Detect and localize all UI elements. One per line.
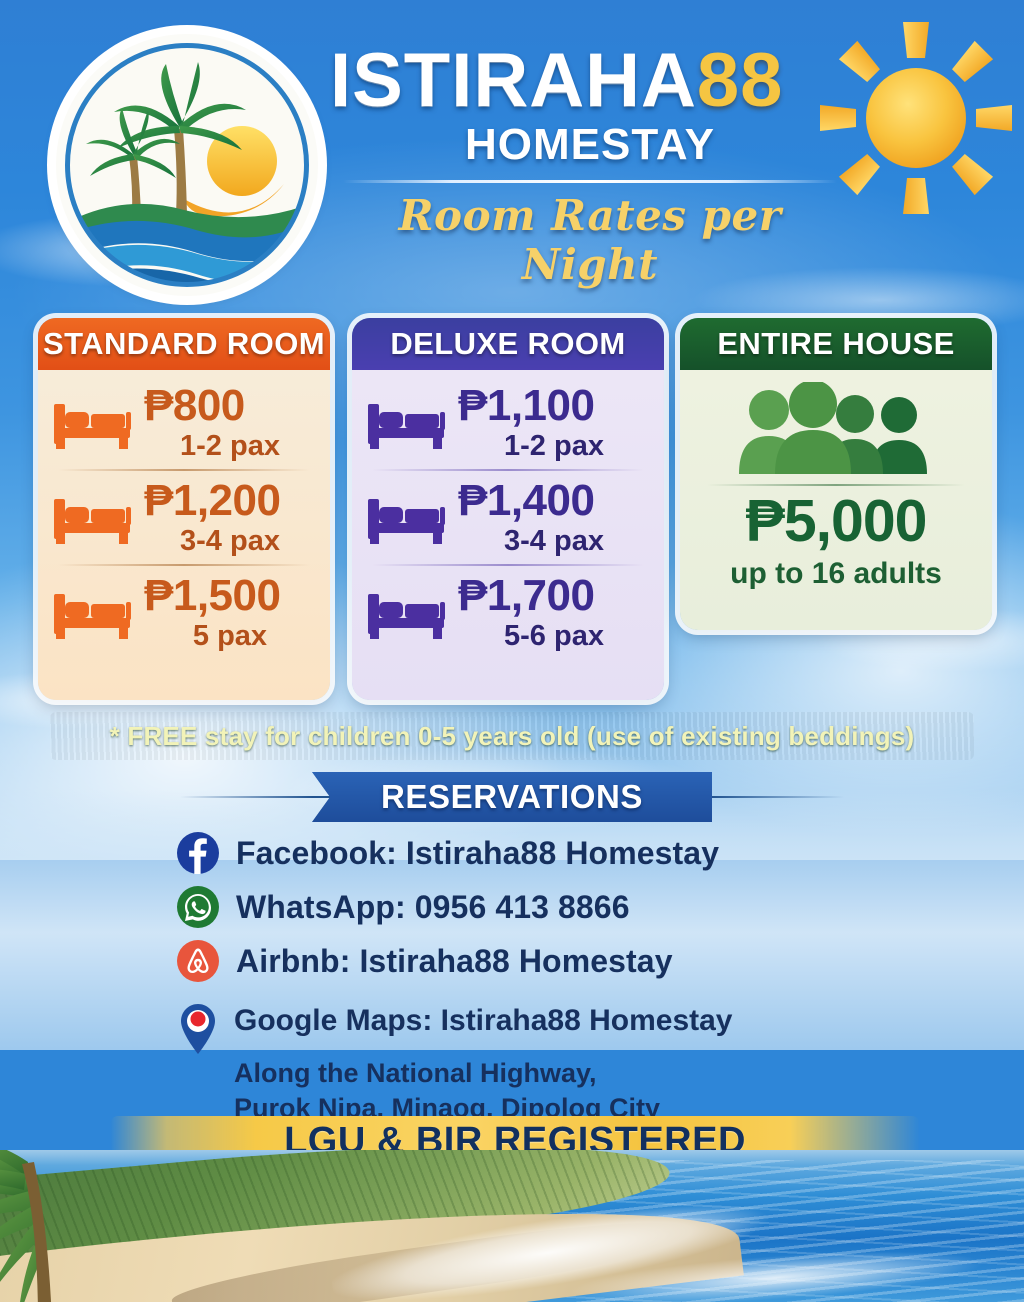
- maps-title: Google Maps: Istiraha88 Homestay: [234, 1004, 733, 1038]
- rate-price: ₱1,700: [458, 574, 594, 618]
- house-price: ₱5,000: [746, 492, 927, 551]
- card-standard-title: STANDARD ROOM: [38, 318, 330, 370]
- card-standard-body: ₱800 1-2 pax: [38, 370, 330, 700]
- bed-icon: [52, 588, 138, 640]
- maps-address: Along the National Highway, Purok Nipa, …: [234, 1056, 936, 1125]
- rate-price: ₱1,400: [458, 479, 594, 523]
- bed-icon: [52, 398, 138, 450]
- rate-text: ₱1,200 3-4 pax: [144, 479, 316, 558]
- maps-address-line1: Along the National Highway,: [234, 1056, 936, 1091]
- title-divider: [343, 180, 837, 183]
- house-capacity: up to 16 adults: [730, 557, 942, 591]
- row-separator: [58, 469, 310, 471]
- card-house-body: ₱5,000 up to 16 adults: [680, 370, 992, 630]
- logo-badge: [56, 34, 318, 296]
- rate-pax: 1-2 pax: [504, 430, 604, 463]
- rate-price: ₱1,200: [144, 479, 280, 523]
- rate-price: ₱800: [144, 384, 245, 428]
- map-pin-icon[interactable]: [176, 1002, 220, 1056]
- sun-icon: [812, 14, 1020, 222]
- airbnb-icon[interactable]: [176, 939, 220, 983]
- card-standard-room[interactable]: STANDARD ROOM ₱800 1-2 pax: [38, 318, 330, 700]
- card-deluxe-body: ₱1,100 1-2 pax: [352, 370, 664, 700]
- group-of-people-icon: [733, 382, 939, 474]
- brand-subtitle: HOMESTAY: [330, 120, 850, 170]
- rate-pax: 1-2 pax: [180, 430, 280, 463]
- card-entire-house[interactable]: ENTIRE HOUSE ₱5,000 up to 16 adults: [680, 318, 992, 630]
- tagline: Room Rates per Night: [330, 191, 850, 289]
- rate-pax: 3-4 pax: [180, 525, 280, 558]
- row-separator: [372, 564, 644, 566]
- free-stay-note: * FREE stay for children 0-5 years old (…: [50, 712, 974, 760]
- bed-icon: [366, 398, 452, 450]
- rate-row: ₱1,100 1-2 pax: [366, 380, 650, 465]
- card-house-title: ENTIRE HOUSE: [680, 318, 992, 370]
- bed-icon: [366, 493, 452, 545]
- contact-google-maps[interactable]: Google Maps: Istiraha88 Homestay Along t…: [176, 1004, 936, 1125]
- contact-airbnb[interactable]: Airbnb: Istiraha88 Homestay: [176, 934, 876, 988]
- card-deluxe-room[interactable]: DELUXE ROOM ₱1,100 1-2 pax: [352, 318, 664, 700]
- brand-number: 88: [697, 38, 784, 123]
- rate-pax: 5 pax: [193, 620, 267, 653]
- rate-text: ₱1,400 3-4 pax: [458, 479, 650, 558]
- brand-title: ISTIRAHA88: [330, 44, 850, 118]
- row-separator: [58, 564, 310, 566]
- row-separator: [372, 469, 644, 471]
- rate-price: ₱1,100: [458, 384, 594, 428]
- contact-facebook[interactable]: Facebook: Istiraha88 Homestay: [176, 826, 876, 880]
- ribbon-shape: RESERVATIONS: [312, 772, 712, 822]
- rate-row: ₱800 1-2 pax: [52, 380, 316, 465]
- facebook-icon[interactable]: [176, 831, 220, 875]
- whatsapp-icon[interactable]: [176, 885, 220, 929]
- bed-icon: [366, 588, 452, 640]
- rate-text: ₱1,500 5 pax: [144, 574, 316, 653]
- contact-whatsapp-label: WhatsApp: 0956 413 8866: [236, 889, 630, 926]
- rate-price: ₱1,500: [144, 574, 280, 618]
- reservations-ribbon: RESERVATIONS: [0, 772, 1024, 822]
- card-deluxe-title: DELUXE ROOM: [352, 318, 664, 370]
- rate-text: ₱800 1-2 pax: [144, 384, 316, 463]
- beach-scene: [0, 1150, 1024, 1302]
- price-cards: STANDARD ROOM ₱800 1-2 pax: [0, 318, 1024, 706]
- rate-row: ₱1,200 3-4 pax: [52, 475, 316, 560]
- palm-frond-icon: [0, 1150, 240, 1302]
- rate-text: ₱1,100 1-2 pax: [458, 384, 650, 463]
- house-separator: [707, 484, 965, 486]
- rate-text: ₱1,700 5-6 pax: [458, 574, 650, 653]
- note-text: * FREE stay for children 0-5 years old (…: [50, 712, 974, 760]
- contact-facebook-label: Facebook: Istiraha88 Homestay: [236, 835, 719, 872]
- contact-airbnb-label: Airbnb: Istiraha88 Homestay: [236, 943, 673, 980]
- contact-whatsapp[interactable]: WhatsApp: 0956 413 8866: [176, 880, 876, 934]
- title-block: ISTIRAHA88 HOMESTAY Room Rates per Night: [330, 44, 850, 289]
- contact-list: Facebook: Istiraha88 Homestay WhatsApp: …: [176, 826, 876, 988]
- rate-row: ₱1,400 3-4 pax: [366, 475, 650, 560]
- logo-ring: [65, 43, 309, 287]
- rate-row: ₱1,700 5-6 pax: [366, 570, 650, 655]
- rate-pax: 3-4 pax: [504, 525, 604, 558]
- ribbon-label: RESERVATIONS: [381, 778, 643, 816]
- poster-root: ISTIRAHA88 HOMESTAY Room Rates per Night: [0, 0, 1024, 1302]
- bed-icon: [52, 493, 138, 545]
- maps-header: Google Maps: Istiraha88 Homestay: [176, 1004, 936, 1056]
- rate-pax: 5-6 pax: [504, 620, 604, 653]
- brand-name: ISTIRAHA: [330, 38, 697, 123]
- header: ISTIRAHA88 HOMESTAY Room Rates per Night: [0, 0, 1024, 290]
- rate-row: ₱1,500 5 pax: [52, 570, 316, 655]
